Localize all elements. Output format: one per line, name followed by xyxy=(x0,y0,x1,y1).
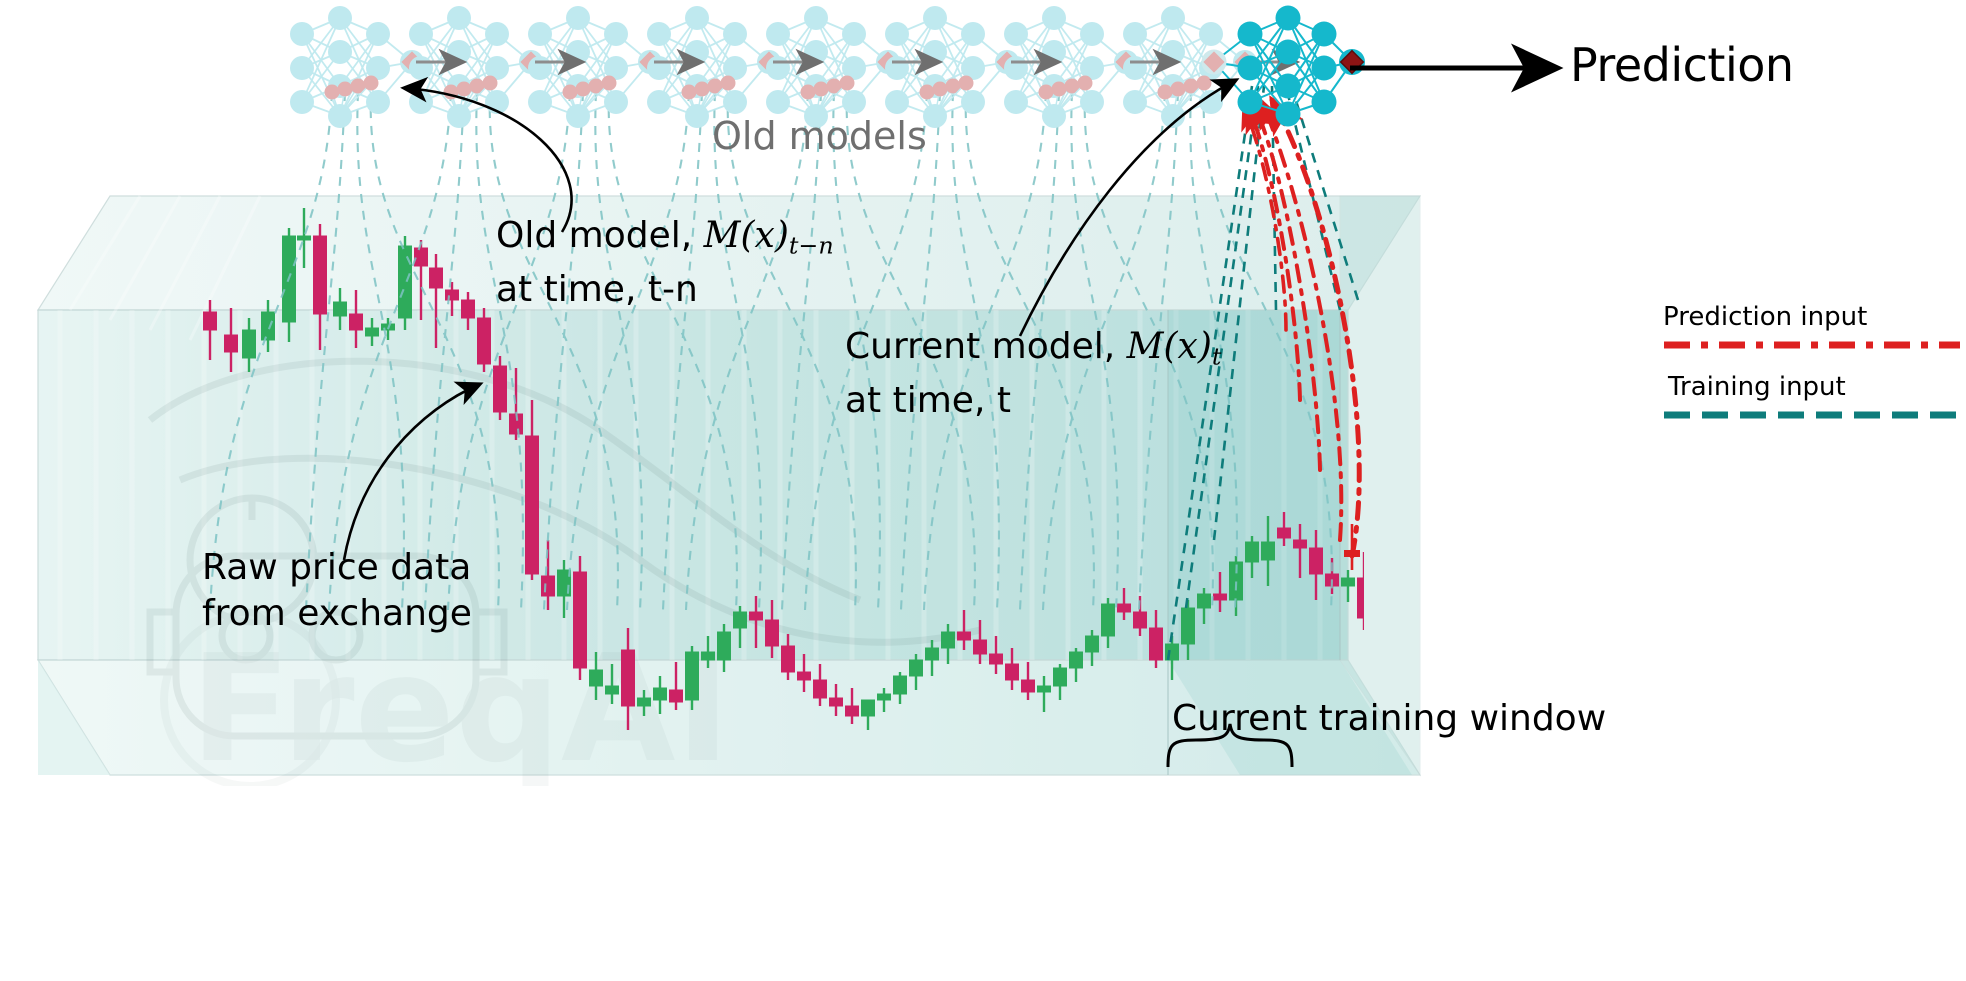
raw-price-line2: from exchange xyxy=(202,591,472,637)
svg-text:FreqAI: FreqAI xyxy=(190,623,731,795)
diagram-svg: FreqAI xyxy=(0,0,1966,981)
raw-price-line1: Raw price data xyxy=(202,545,472,591)
old-model-math: M(x) xyxy=(704,215,789,256)
current-model-prefix: Current model, xyxy=(845,326,1127,367)
current-training-window-label: Current training window xyxy=(1172,698,1606,739)
current-model-line2: at time, t xyxy=(845,379,1221,423)
current-model-annotation: Current model, M(x)t at time, t xyxy=(845,325,1221,423)
raw-price-annotation: Raw price data from exchange xyxy=(202,545,472,637)
current-model-math-sub: t xyxy=(1212,343,1222,371)
old-model-math-sub: t−n xyxy=(789,232,834,260)
old-model-annotation: Old model, M(x)t−n at time, t-n xyxy=(496,214,834,312)
old-model-line2: at time, t-n xyxy=(496,268,834,312)
diagram-canvas: FreqAI xyxy=(0,0,1966,981)
legend-label-training-input: Training input xyxy=(1668,372,1846,402)
old-model-networks xyxy=(290,6,1257,128)
current-model-math: M(x) xyxy=(1127,326,1212,367)
prediction-label: Prediction xyxy=(1570,38,1794,92)
old-models-label: Old models xyxy=(712,114,927,158)
old-model-prefix: Old model, xyxy=(496,215,704,256)
legend-label-prediction-input: Prediction input xyxy=(1663,302,1867,332)
